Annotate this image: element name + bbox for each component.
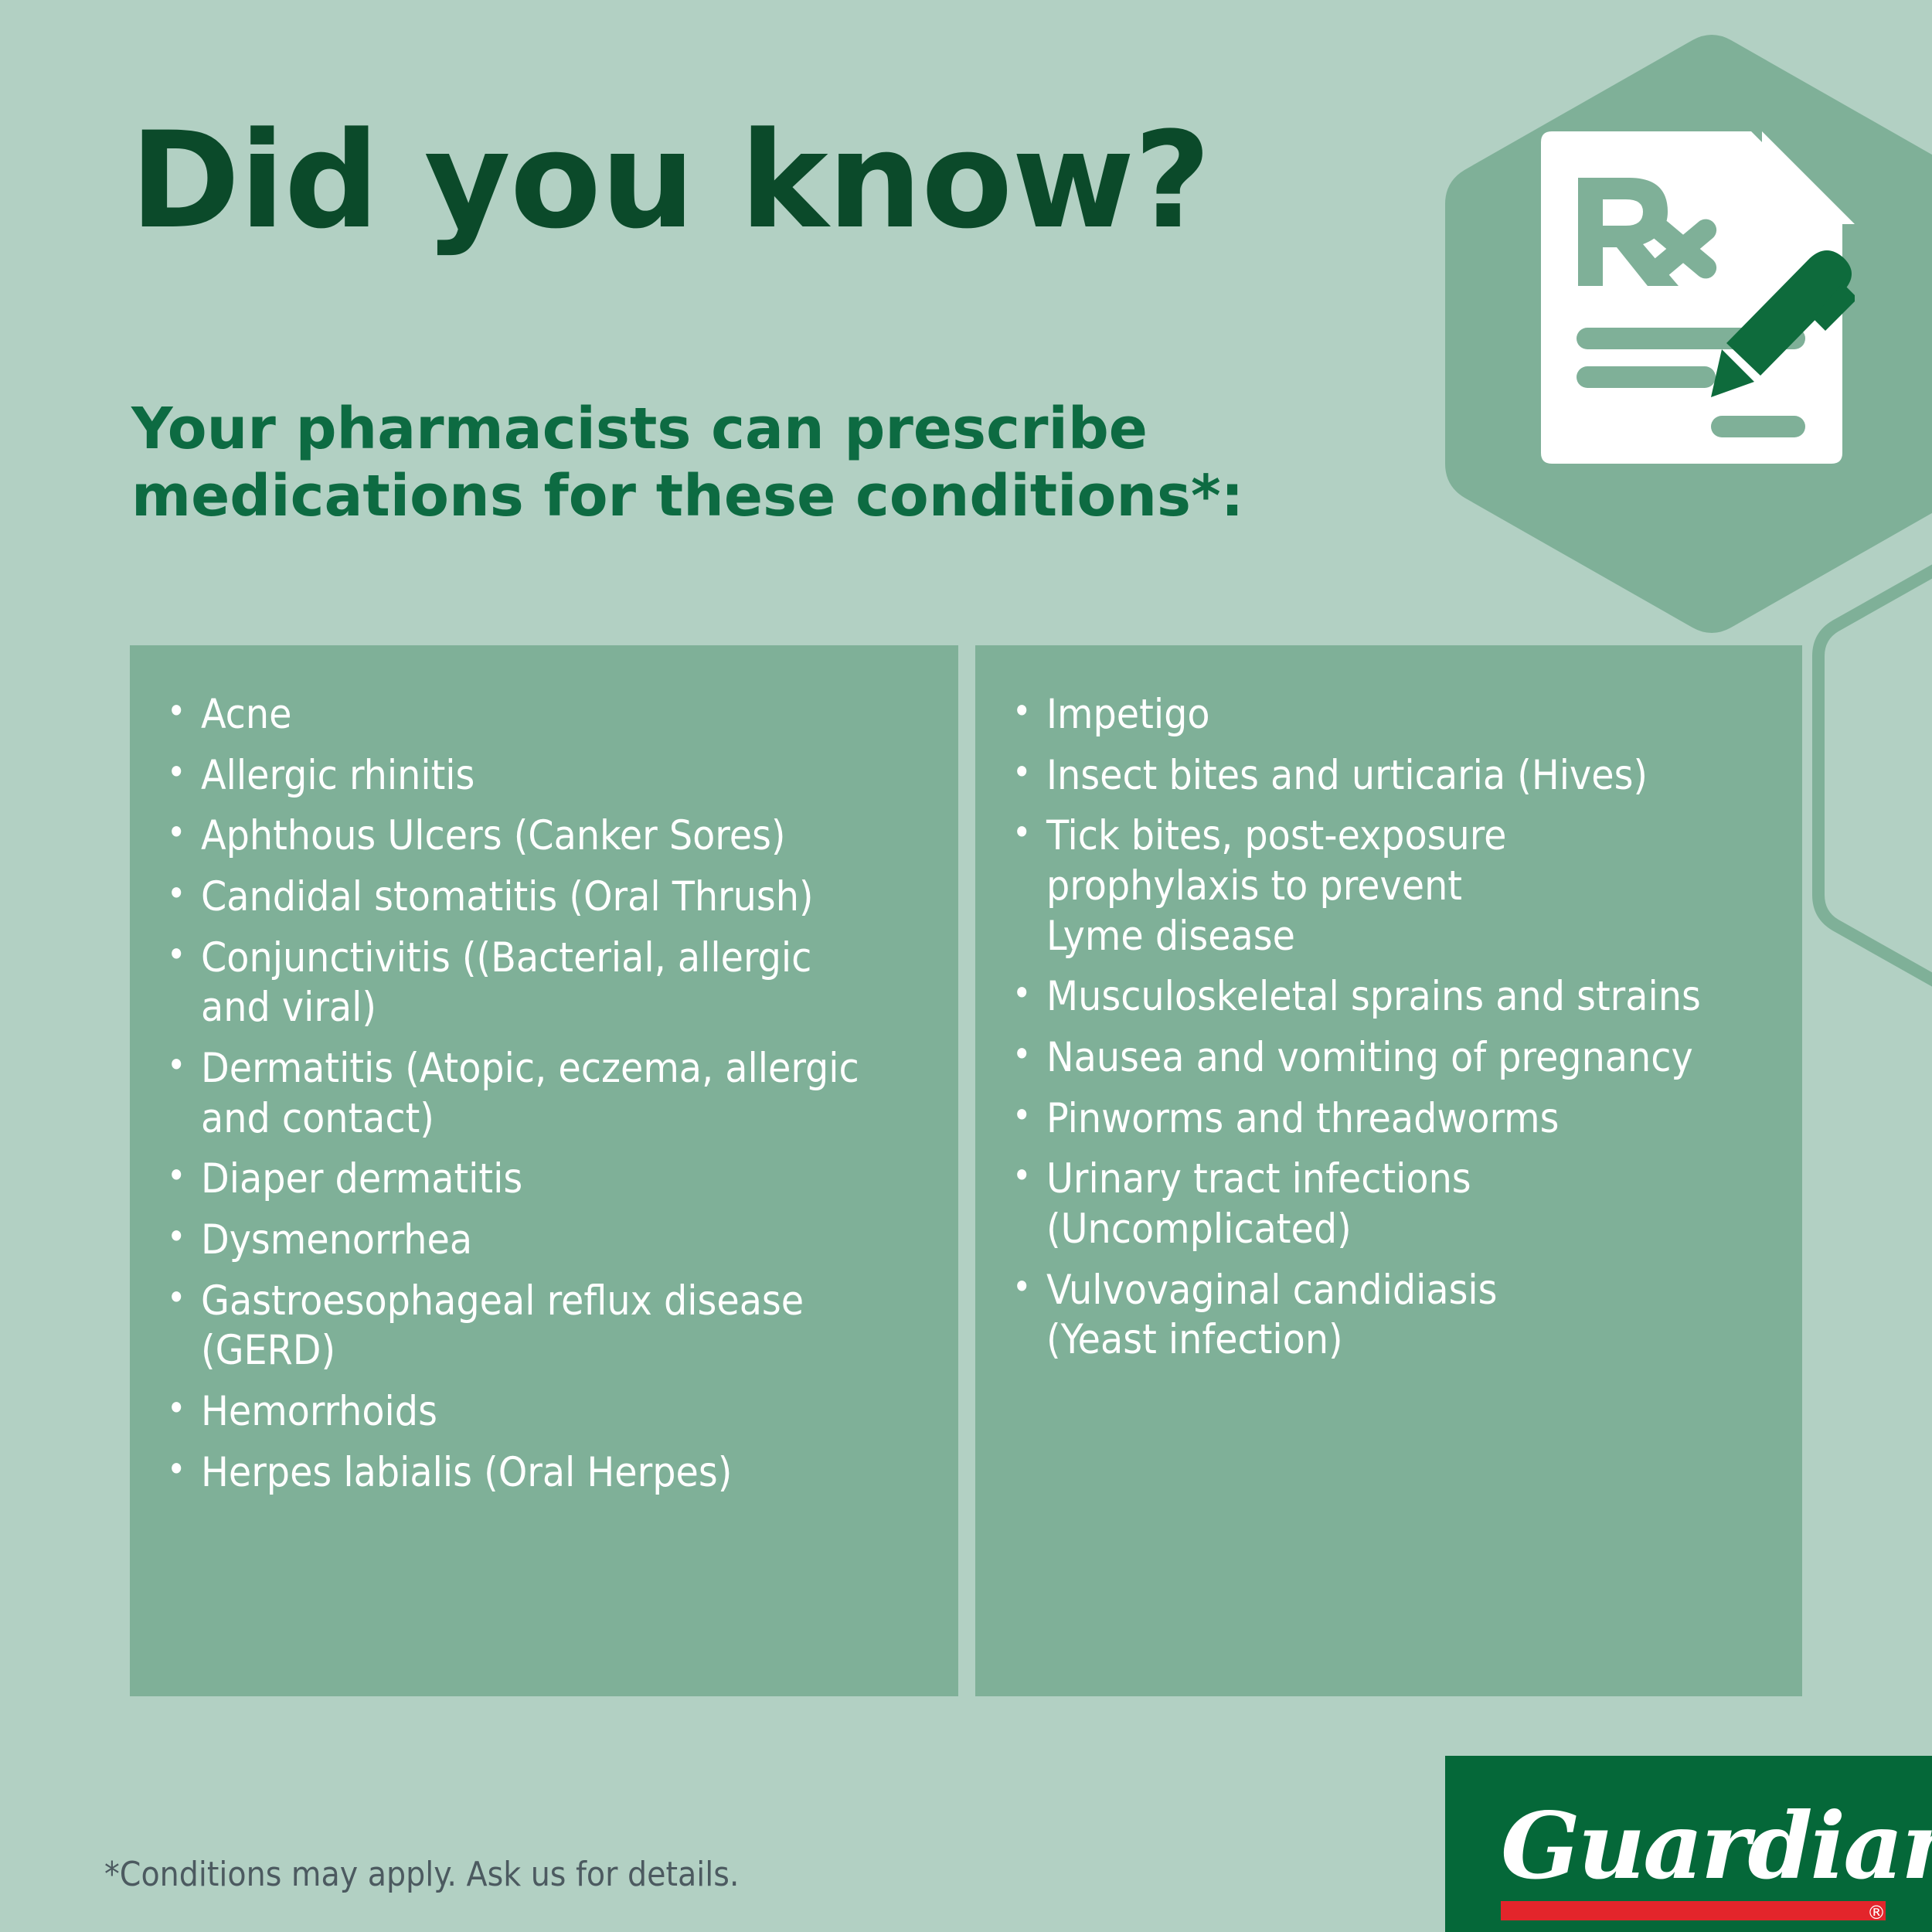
- document-line-2: [1577, 366, 1716, 388]
- guardian-logo: Guardian ®: [1445, 1756, 1932, 1932]
- guardian-wordmark: Guardian: [1501, 1792, 1932, 1900]
- document-line-3: [1711, 416, 1805, 437]
- hexagon-outline-shape: [1818, 502, 1932, 1050]
- conditions-card-left: Acne Allergic rhinitis Aphthous Ulcers (…: [130, 645, 958, 1696]
- list-item: Aphthous Ulcers (Canker Sores): [161, 811, 927, 862]
- list-item: Pinworms and threadworms: [1006, 1094, 1771, 1145]
- list-item: Herpes labialis (Oral Herpes): [161, 1448, 927, 1498]
- footnote-disclaimer: *Conditions may apply. Ask us for detail…: [104, 1855, 739, 1894]
- rx-document-with-pencil-icon: [1530, 131, 1855, 464]
- list-item: Diaper dermatitis: [161, 1155, 927, 1205]
- list-item: Impetigo: [1006, 690, 1771, 740]
- list-item: Insect bites and urticaria (Hives): [1006, 751, 1771, 801]
- conditions-card-right: Impetigo Insect bites and urticaria (Hiv…: [975, 645, 1802, 1696]
- list-item: Conjunctivitis ((Bacterial, allergic and…: [161, 934, 927, 1033]
- list-item: Gastroesophageal reflux disease (GERD): [161, 1277, 927, 1376]
- list-item: Tick bites, post-exposure prophylaxis to…: [1006, 811, 1771, 961]
- list-item: Allergic rhinitis: [161, 751, 927, 801]
- list-item: Nausea and vomiting of pregnancy: [1006, 1033, 1771, 1083]
- conditions-list-left: Acne Allergic rhinitis Aphthous Ulcers (…: [161, 690, 927, 1498]
- conditions-list-right: Impetigo Insect bites and urticaria (Hiv…: [1006, 690, 1771, 1366]
- list-item: Dysmenorrhea: [161, 1216, 927, 1266]
- list-item: Hemorrhoids: [161, 1387, 927, 1437]
- registered-trademark-mark: ®: [1867, 1902, 1886, 1923]
- document-folded-corner: [1762, 131, 1855, 224]
- list-item: Vulvovaginal candidiasis (Yeast infectio…: [1006, 1266, 1771, 1366]
- list-item: Urinary tract infections (Uncomplicated): [1006, 1155, 1771, 1254]
- guardian-logo-underline: [1501, 1901, 1886, 1920]
- list-item: Musculoskeletal sprains and strains: [1006, 972, 1771, 1022]
- page-title: Did you know?: [130, 114, 1210, 247]
- page-subtitle: Your pharmacists can prescribe medicatio…: [131, 396, 1243, 529]
- list-item: Acne: [161, 690, 927, 740]
- list-item: Dermatitis (Atopic, eczema, allergic and…: [161, 1044, 927, 1144]
- conditions-card-group: Acne Allergic rhinitis Aphthous Ulcers (…: [130, 645, 1802, 1696]
- list-item: Candidal stomatitis (Oral Thrush): [161, 872, 927, 923]
